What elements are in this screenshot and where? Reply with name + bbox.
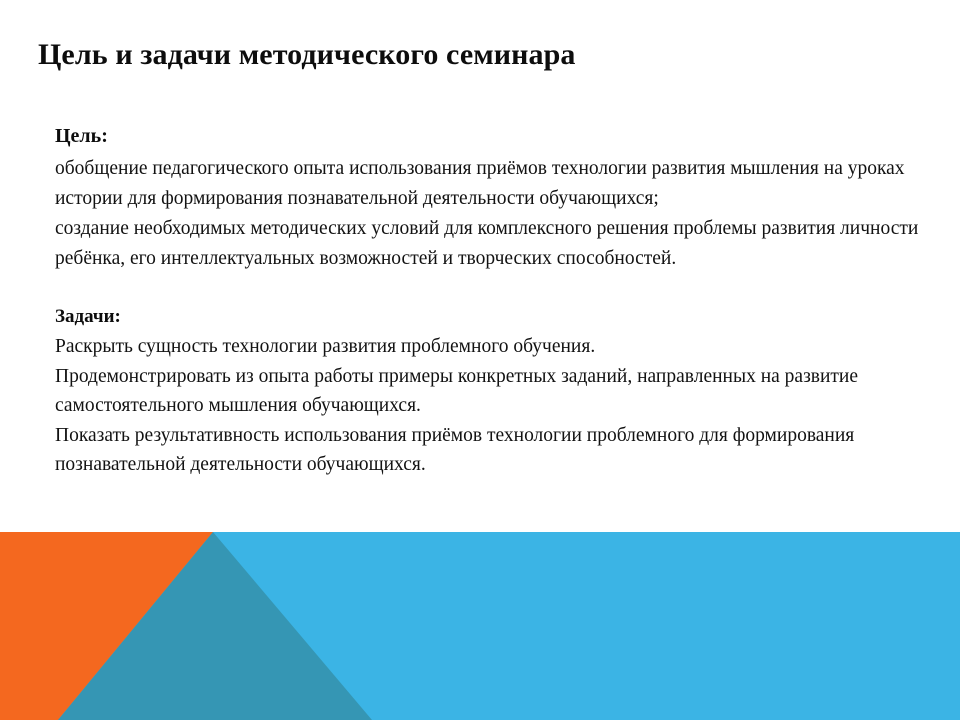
spacer: [55, 274, 933, 304]
tasks-item-3: Показать результативность использования …: [55, 421, 933, 480]
tasks-item-1: Раскрыть сущность технологии развития пр…: [55, 332, 933, 362]
slide-body: Цель: обобщение педагогического опыта ис…: [55, 122, 933, 480]
page-title: Цель и задачи методического семинара: [38, 37, 918, 73]
goal-paragraph-2: создание необходимых методических услови…: [55, 214, 933, 274]
slide-canvas: Цель и задачи методического семинара Цел…: [0, 0, 960, 720]
footer-shapes-svg: [0, 532, 960, 720]
goal-paragraph-1: обобщение педагогического опыта использо…: [55, 154, 933, 214]
footer-decoration: [0, 532, 960, 720]
tasks-heading: Задачи:: [55, 304, 933, 330]
tasks-item-2: Продемонстрировать из опыта работы приме…: [55, 362, 933, 421]
goal-heading: Цель:: [55, 122, 933, 150]
